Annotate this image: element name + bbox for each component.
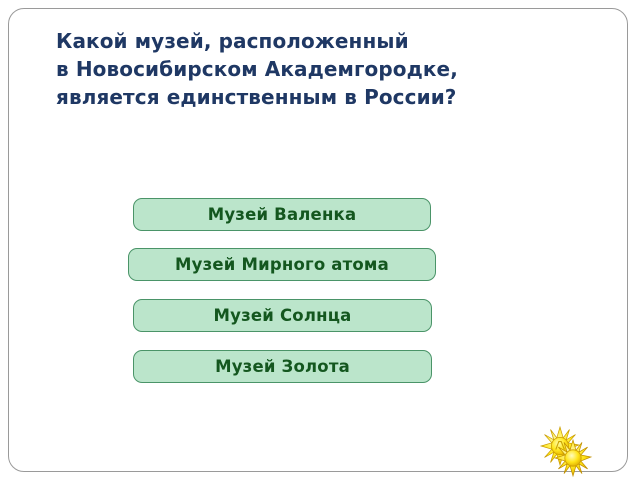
answer-option-2-button[interactable]: Музей Мирного атома	[128, 248, 436, 281]
answer-option-4-label: Музей Золота	[215, 357, 350, 376]
page-title: Какой музей, расположенный в Новосибирск…	[56, 27, 596, 111]
answer-option-3-button[interactable]: Музей Солнца	[133, 299, 432, 332]
sunburst-icon[interactable]	[537, 423, 597, 481]
answer-option-4-button[interactable]: Музей Золота	[133, 350, 432, 383]
slide-frame: Какой музей, расположенный в Новосибирск…	[8, 8, 628, 472]
answer-option-3-label: Музей Солнца	[214, 306, 352, 325]
answer-option-2-label: Музей Мирного атома	[175, 255, 389, 274]
answer-options-list: Музей Валенка Музей Мирного атома Музей …	[9, 198, 640, 388]
answer-option-1-button[interactable]: Музей Валенка	[133, 198, 431, 231]
answer-option-1-label: Музей Валенка	[208, 205, 357, 224]
